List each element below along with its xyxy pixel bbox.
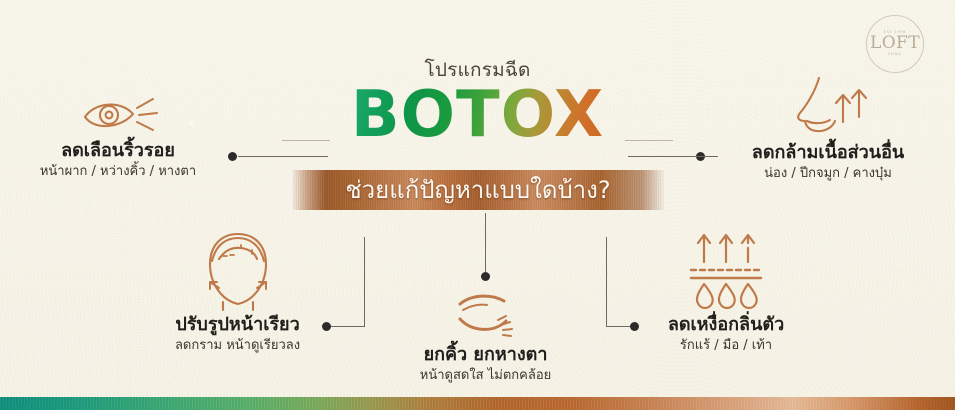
item-title: ปรับรูปหน้าเรียว [145, 314, 330, 337]
item-title: ลดเลือนริ้วรอย [12, 140, 224, 163]
connector-line-other-muscles [628, 156, 718, 157]
strip-sheen [0, 397, 955, 410]
eyebrow-lift-icon [378, 288, 593, 344]
face-slimming-icon [145, 228, 330, 314]
banner-text: ช่วยแก้ปัญหาแบบใดบ้าง? [345, 178, 610, 202]
logo-wordmark: LOFT [870, 35, 920, 52]
logo-sub-text: CLINIC [888, 53, 902, 57]
connector-hline-slim-face [330, 326, 365, 327]
infographic-poster: EST 1996 LOFT CLINIC โปรแกรมฉีด BOTOX ช่… [0, 0, 955, 410]
item-subtitle: หน้าผาก / หว่างคิ้ว / หางตา [12, 164, 224, 181]
item-title: ลดเหงื่อกลิ่นตัว [626, 314, 826, 337]
title-rule-right [625, 140, 673, 141]
item-sweat-odor: ลดเหงื่อกลิ่นตัว รักแร้ / มือ / เท้า [626, 228, 826, 354]
connector-vline-slim-face [364, 237, 365, 327]
item-brow-lift: ยกคิ้ว ยกหางตา หน้าดูสดใส ไม่ตกคล้อย [378, 288, 593, 384]
brand-title-botox: BOTOX [351, 83, 604, 148]
connector-vline-brow-lift [485, 213, 486, 277]
item-subtitle: รักแร้ / มือ / เท้า [626, 338, 826, 355]
connector-vline-sweat-odor [606, 237, 607, 327]
item-title: ยกคิ้ว ยกหางตา [378, 344, 593, 367]
item-other-muscles: ลดกล้ามเนื้อส่วนอื่น น่อง / ปีกจมูก / คา… [712, 72, 944, 182]
nose-profile-icon [712, 72, 944, 142]
question-banner: ช่วยแก้ปัญหาแบบใดบ้าง? [292, 170, 664, 210]
bottom-gradient-strip [0, 397, 955, 410]
item-subtitle: ลดกราม หน้าดูเรียวลง [145, 338, 330, 355]
item-subtitle: หน้าดูสดใส ไม่ตกคล้อย [378, 368, 593, 385]
item-title: ลดกล้ามเนื้อส่วนอื่น [712, 142, 944, 165]
eye-crowsfeet-icon [12, 88, 224, 140]
item-slim-face: ปรับรูปหน้าเรียว ลดกราม หน้าดูเรียวลง [145, 228, 330, 354]
item-subtitle: น่อง / ปีกจมูก / คางบุ๋ม [712, 166, 944, 183]
connector-dot-wrinkles [228, 152, 237, 161]
connector-dot-brow-lift [481, 272, 490, 281]
connector-line-wrinkles [238, 156, 328, 157]
item-wrinkles: ลดเลือนริ้วรอย หน้าผาก / หว่างคิ้ว / หาง… [12, 88, 224, 180]
title-rule-left [282, 140, 330, 141]
sweat-drops-icon [626, 228, 826, 314]
